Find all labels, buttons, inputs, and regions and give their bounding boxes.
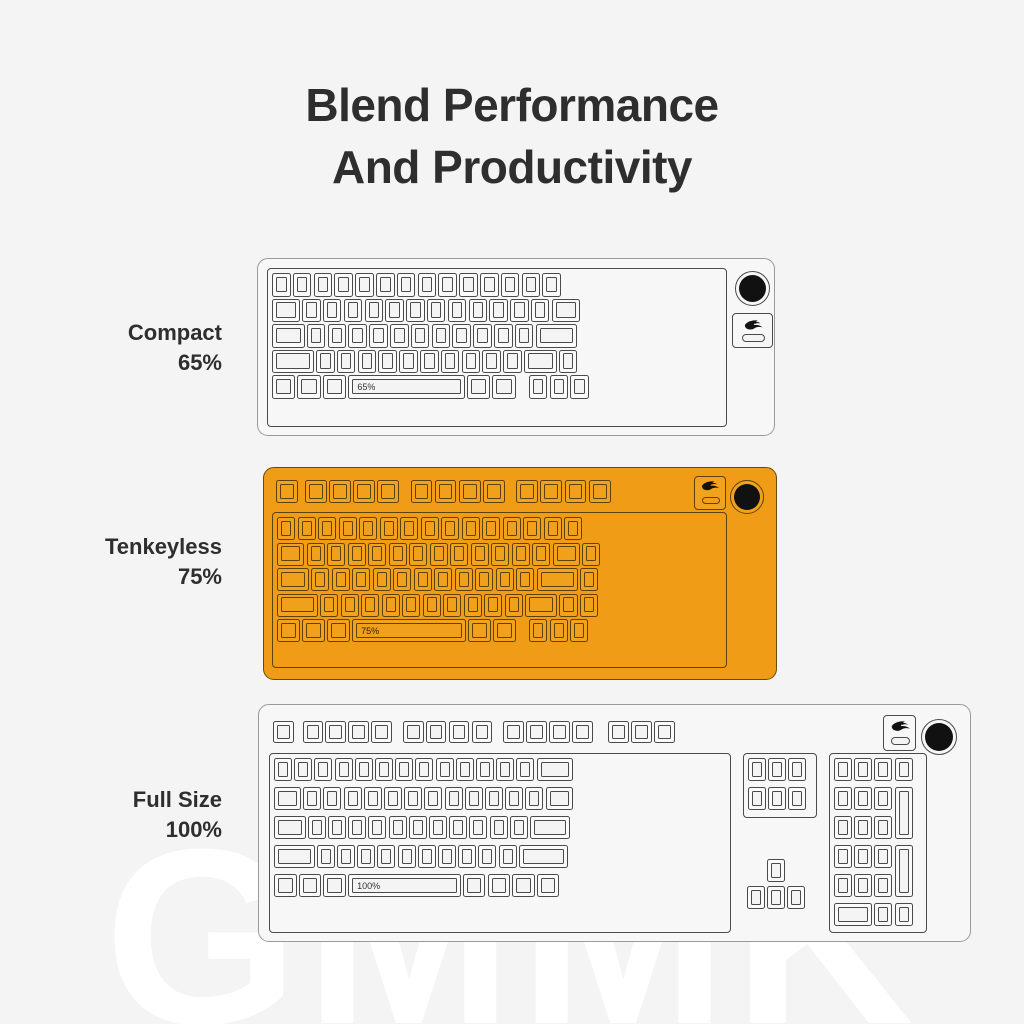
key-function[interactable] xyxy=(371,721,392,743)
key-function[interactable] xyxy=(540,480,562,503)
key-qwerty-row[interactable] xyxy=(424,787,442,810)
key-number-row[interactable] xyxy=(544,517,562,540)
key-qwerty-row[interactable] xyxy=(277,543,304,566)
key-number-row[interactable] xyxy=(293,273,312,297)
key-nav[interactable] xyxy=(768,758,786,781)
key-escape[interactable] xyxy=(273,721,294,743)
glorious-bird-logo-icon xyxy=(699,480,722,492)
spacebar-size-label[interactable] xyxy=(348,375,464,399)
key-number-row[interactable] xyxy=(314,758,332,781)
key-function[interactable] xyxy=(426,721,447,743)
key-home-row[interactable] xyxy=(368,816,386,839)
key-number-row[interactable] xyxy=(380,517,398,540)
key-number-row[interactable] xyxy=(522,273,541,297)
keyboard-label-tenkeyless: Tenkeyless 75% xyxy=(42,532,222,591)
key-qwerty-row[interactable] xyxy=(582,543,600,566)
key-home-row[interactable] xyxy=(307,324,326,348)
key-qwerty-row[interactable] xyxy=(404,787,422,810)
key-qwerty-row[interactable] xyxy=(485,787,503,810)
key-home-row[interactable] xyxy=(274,816,306,839)
key-nav[interactable] xyxy=(748,787,766,810)
key-home-row[interactable] xyxy=(411,324,430,348)
key-escape[interactable] xyxy=(276,480,298,503)
key-qwerty-row[interactable] xyxy=(368,543,386,566)
key-function[interactable] xyxy=(526,721,547,743)
key-shift-row[interactable] xyxy=(505,594,523,617)
nav-cluster-plate xyxy=(743,753,817,818)
key-function[interactable] xyxy=(572,721,593,743)
knob-cap xyxy=(734,484,760,510)
key-shift-row[interactable] xyxy=(398,845,416,868)
keyboard-label-full-size-percent: 100% xyxy=(42,815,222,845)
page-title: Blend Performance And Productivity xyxy=(0,74,1024,198)
key-qwerty-row[interactable] xyxy=(272,299,300,323)
key-home-row[interactable] xyxy=(414,568,432,591)
key-numpad[interactable] xyxy=(854,874,872,897)
key-number-row[interactable] xyxy=(355,273,374,297)
key-shift-row[interactable] xyxy=(559,594,577,617)
key-shift-row[interactable] xyxy=(503,350,522,374)
key-home-row[interactable] xyxy=(352,568,370,591)
key-nav[interactable] xyxy=(788,787,806,810)
key-qwerty-row[interactable] xyxy=(344,787,362,810)
key-shift-row[interactable] xyxy=(399,350,418,374)
key-qwerty-row[interactable] xyxy=(505,787,523,810)
rotary-knob-icon[interactable] xyxy=(921,719,957,755)
key-qwerty-row[interactable] xyxy=(531,299,550,323)
key-arrow[interactable] xyxy=(570,619,588,642)
key-numpad[interactable] xyxy=(874,758,892,781)
key-function[interactable] xyxy=(589,480,611,503)
key-function[interactable] xyxy=(459,480,481,503)
key-number-row[interactable] xyxy=(441,517,459,540)
key-numpad[interactable] xyxy=(895,903,913,926)
logo-badge xyxy=(694,476,726,510)
key-shift-row[interactable] xyxy=(525,594,557,617)
key-function[interactable] xyxy=(549,721,570,743)
key-shift-row[interactable] xyxy=(357,845,375,868)
key-shift-row[interactable] xyxy=(320,594,338,617)
key-shift-row[interactable] xyxy=(316,350,335,374)
key-function[interactable] xyxy=(483,480,505,503)
key-qwerty-row[interactable] xyxy=(553,543,580,566)
key-shift-row[interactable] xyxy=(423,594,441,617)
key-qwerty-row[interactable] xyxy=(445,787,463,810)
key-home-row[interactable] xyxy=(272,324,305,348)
key-shift-row[interactable] xyxy=(358,350,377,374)
key-home-row[interactable] xyxy=(393,568,411,591)
key-home-row[interactable] xyxy=(328,324,347,348)
key-home-row[interactable] xyxy=(389,816,407,839)
keyboard-label-tenkeyless-percent: 75% xyxy=(42,562,222,592)
key-number-row[interactable] xyxy=(496,758,514,781)
key-qwerty-row[interactable] xyxy=(510,299,529,323)
keyboard-label-compact-percent: 65% xyxy=(42,348,222,378)
keyboard-label-full-size-name: Full Size xyxy=(133,787,222,812)
key-arrow[interactable] xyxy=(747,886,765,909)
key-numpad-zero[interactable] xyxy=(834,903,872,926)
key-qwerty-row[interactable] xyxy=(274,787,301,810)
key-number-row[interactable] xyxy=(375,758,393,781)
key-nav[interactable] xyxy=(748,758,766,781)
key-system[interactable] xyxy=(608,721,629,743)
key-numpad[interactable] xyxy=(895,758,913,781)
function-row-plate xyxy=(269,717,869,749)
key-qwerty-row[interactable] xyxy=(327,543,345,566)
key-qwerty-row[interactable] xyxy=(302,299,321,323)
logo-badge xyxy=(883,715,916,751)
key-home-row[interactable] xyxy=(490,816,508,839)
key-numpad[interactable] xyxy=(834,758,852,781)
key-home-row[interactable] xyxy=(515,324,534,348)
key-modifier[interactable] xyxy=(492,375,515,399)
key-number-row[interactable] xyxy=(476,758,494,781)
key-home-row[interactable] xyxy=(429,816,447,839)
key-shift-row[interactable] xyxy=(317,845,335,868)
key-home-row[interactable] xyxy=(455,568,473,591)
key-arrow[interactable] xyxy=(787,886,805,909)
key-shift-row[interactable] xyxy=(361,594,379,617)
keyboard-plate xyxy=(272,512,727,668)
key-shift-row[interactable] xyxy=(580,594,598,617)
key-qwerty-row[interactable] xyxy=(450,543,468,566)
key-numpad[interactable] xyxy=(854,845,872,868)
knob-cap xyxy=(925,723,953,751)
key-shift-row[interactable] xyxy=(519,845,569,868)
key-qwerty-row[interactable] xyxy=(409,543,427,566)
key-modifier[interactable] xyxy=(274,874,297,897)
key-home-row[interactable] xyxy=(449,816,467,839)
key-function[interactable] xyxy=(325,721,346,743)
key-number-row[interactable] xyxy=(480,273,499,297)
key-function[interactable] xyxy=(329,480,351,503)
key-shift-row[interactable] xyxy=(478,845,496,868)
key-numpad[interactable] xyxy=(834,874,852,897)
key-number-row[interactable] xyxy=(438,273,457,297)
numpad-plate xyxy=(829,753,927,933)
key-home-row[interactable] xyxy=(469,816,487,839)
key-arrow[interactable] xyxy=(529,619,547,642)
key-number-row[interactable] xyxy=(334,273,353,297)
key-numpad[interactable] xyxy=(834,787,852,810)
key-shift-row[interactable] xyxy=(277,594,318,617)
key-modifier[interactable] xyxy=(323,874,346,897)
key-numpad[interactable] xyxy=(854,816,872,839)
key-number-row[interactable] xyxy=(462,517,480,540)
key-qwerty-row[interactable] xyxy=(552,299,580,323)
key-system[interactable] xyxy=(631,721,652,743)
key-number-row[interactable] xyxy=(516,758,534,781)
status-indicator-pill xyxy=(742,334,765,342)
key-qwerty-row[interactable] xyxy=(430,543,448,566)
keyboard-plate xyxy=(267,268,727,427)
key-qwerty-row[interactable] xyxy=(385,299,404,323)
key-number-row[interactable] xyxy=(274,758,292,781)
key-number-row[interactable] xyxy=(298,517,316,540)
key-arrow[interactable] xyxy=(529,375,548,399)
key-arrow[interactable] xyxy=(767,886,785,909)
keyboard-label-compact-name: Compact xyxy=(128,320,222,345)
rotary-knob-icon[interactable] xyxy=(730,480,764,514)
key-qwerty-row[interactable] xyxy=(525,787,543,810)
key-function[interactable] xyxy=(565,480,587,503)
key-function[interactable] xyxy=(353,480,375,503)
key-number-row[interactable] xyxy=(482,517,500,540)
logo-badge xyxy=(732,313,773,348)
key-home-row[interactable] xyxy=(373,568,391,591)
rotary-knob-icon[interactable] xyxy=(735,271,770,306)
key-number-row[interactable] xyxy=(415,758,433,781)
key-numpad[interactable] xyxy=(834,845,852,868)
key-shift-row[interactable] xyxy=(341,594,359,617)
key-shift-row[interactable] xyxy=(382,594,400,617)
status-indicator-pill xyxy=(702,497,720,504)
key-shift-row[interactable] xyxy=(377,845,395,868)
key-arrow[interactable] xyxy=(550,619,568,642)
key-qwerty-row[interactable] xyxy=(427,299,446,323)
key-number-row[interactable] xyxy=(335,758,353,781)
key-home-row[interactable] xyxy=(537,568,578,591)
key-numpad[interactable] xyxy=(874,874,892,897)
key-shift-row[interactable] xyxy=(438,845,456,868)
key-home-row[interactable] xyxy=(475,568,493,591)
key-qwerty-row[interactable] xyxy=(512,543,530,566)
key-qwerty-row[interactable] xyxy=(384,787,402,810)
key-modifier[interactable] xyxy=(512,874,535,897)
key-home-row[interactable] xyxy=(510,816,528,839)
keyboard-tenkeyless[interactable] xyxy=(263,467,777,680)
key-home-row[interactable] xyxy=(530,816,571,839)
page-title-line-1: Blend Performance xyxy=(305,79,718,131)
key-home-row[interactable] xyxy=(311,568,329,591)
key-function[interactable] xyxy=(516,480,538,503)
key-numpad-plus[interactable] xyxy=(895,787,913,839)
key-arrow-up[interactable] xyxy=(767,859,785,882)
key-function[interactable] xyxy=(472,721,493,743)
key-modifier[interactable] xyxy=(272,375,295,399)
key-numpad[interactable] xyxy=(874,787,892,810)
key-qwerty-row[interactable] xyxy=(532,543,550,566)
key-home-row[interactable] xyxy=(390,324,409,348)
key-home-row[interactable] xyxy=(409,816,427,839)
arrow-cluster-plate xyxy=(743,857,817,913)
key-home-row[interactable] xyxy=(432,324,451,348)
key-function[interactable] xyxy=(411,480,433,503)
key-system[interactable] xyxy=(654,721,675,743)
key-arrow[interactable] xyxy=(570,375,589,399)
key-shift-row[interactable] xyxy=(337,350,356,374)
key-function[interactable] xyxy=(348,721,369,743)
key-number-row[interactable] xyxy=(400,517,418,540)
key-number-row[interactable] xyxy=(395,758,413,781)
key-number-row[interactable] xyxy=(421,517,439,540)
key-numpad-enter[interactable] xyxy=(895,845,913,897)
keyboard-label-full-size: Full Size 100% xyxy=(42,785,222,844)
key-shift-row[interactable] xyxy=(559,350,578,374)
key-shift-row[interactable] xyxy=(402,594,420,617)
key-home-row[interactable] xyxy=(496,568,514,591)
key-shift-row[interactable] xyxy=(458,845,476,868)
key-home-row[interactable] xyxy=(516,568,534,591)
key-qwerty-row[interactable] xyxy=(344,299,363,323)
keyboard-plate-main xyxy=(269,753,731,933)
key-number-row[interactable] xyxy=(359,517,377,540)
keyboard-compact[interactable] xyxy=(257,258,775,436)
key-modifier[interactable] xyxy=(277,619,300,642)
key-qwerty-row[interactable] xyxy=(364,787,382,810)
key-number-row[interactable] xyxy=(314,273,333,297)
key-qwerty-row[interactable] xyxy=(406,299,425,323)
page-title-line-2: And Productivity xyxy=(0,136,1024,198)
spacebar-size-label[interactable] xyxy=(348,874,461,897)
key-number-row[interactable] xyxy=(503,517,521,540)
key-modifier[interactable] xyxy=(537,874,560,897)
key-home-row[interactable] xyxy=(434,568,452,591)
key-numpad[interactable] xyxy=(874,845,892,868)
key-nav[interactable] xyxy=(768,787,786,810)
key-arrow[interactable] xyxy=(550,375,569,399)
glorious-bird-logo-icon xyxy=(739,319,769,331)
key-modifier[interactable] xyxy=(493,619,516,642)
key-qwerty-row[interactable] xyxy=(307,543,325,566)
key-function[interactable] xyxy=(377,480,399,503)
key-shift-row[interactable] xyxy=(462,350,481,374)
key-number-row[interactable] xyxy=(456,758,474,781)
key-qwerty-row[interactable] xyxy=(465,787,483,810)
key-numpad[interactable] xyxy=(834,816,852,839)
key-qwerty-row[interactable] xyxy=(323,787,341,810)
key-numpad[interactable] xyxy=(854,758,872,781)
key-home-row[interactable] xyxy=(332,568,350,591)
key-home-row[interactable] xyxy=(348,816,366,839)
key-function[interactable] xyxy=(303,721,324,743)
key-qwerty-row[interactable] xyxy=(348,543,366,566)
glorious-bird-logo-icon xyxy=(889,720,913,732)
spacebar-size-label[interactable] xyxy=(352,619,466,642)
key-modifier[interactable] xyxy=(327,619,350,642)
key-qwerty-row[interactable] xyxy=(303,787,321,810)
key-function[interactable] xyxy=(503,721,524,743)
key-number-row[interactable] xyxy=(376,273,395,297)
key-number-row[interactable] xyxy=(397,273,416,297)
key-number-row[interactable] xyxy=(542,273,561,297)
key-number-row[interactable] xyxy=(523,517,541,540)
key-shift-row[interactable] xyxy=(420,350,439,374)
key-number-row[interactable] xyxy=(339,517,357,540)
key-shift-row[interactable] xyxy=(272,350,314,374)
key-home-row[interactable] xyxy=(369,324,388,348)
key-qwerty-row[interactable] xyxy=(389,543,407,566)
key-modifier[interactable] xyxy=(468,619,491,642)
key-qwerty-row[interactable] xyxy=(546,787,573,810)
key-number-row[interactable] xyxy=(318,517,336,540)
keyboard-full-size[interactable] xyxy=(258,704,971,942)
key-shift-row[interactable] xyxy=(378,350,397,374)
key-number-row[interactable] xyxy=(501,273,520,297)
key-number-row[interactable] xyxy=(294,758,312,781)
key-qwerty-row[interactable] xyxy=(365,299,384,323)
key-qwerty-row[interactable] xyxy=(489,299,508,323)
key-number-row[interactable] xyxy=(459,273,478,297)
keyboard-label-tenkeyless-name: Tenkeyless xyxy=(105,534,222,559)
key-modifier[interactable] xyxy=(302,619,325,642)
key-numpad-dot[interactable] xyxy=(874,903,892,926)
key-shift-row[interactable] xyxy=(443,594,461,617)
key-numpad[interactable] xyxy=(874,816,892,839)
key-qwerty-row[interactable] xyxy=(491,543,509,566)
key-modifier[interactable] xyxy=(488,874,511,897)
key-home-row[interactable] xyxy=(348,324,367,348)
key-modifier[interactable] xyxy=(323,375,346,399)
key-shift-row[interactable] xyxy=(482,350,501,374)
key-home-row[interactable] xyxy=(277,568,309,591)
key-number-row[interactable] xyxy=(537,758,573,781)
key-number-row[interactable] xyxy=(277,517,295,540)
key-number-row[interactable] xyxy=(564,517,582,540)
key-nav[interactable] xyxy=(788,758,806,781)
key-qwerty-row[interactable] xyxy=(448,299,467,323)
key-modifier[interactable] xyxy=(297,375,320,399)
key-qwerty-row[interactable] xyxy=(323,299,342,323)
key-shift-row[interactable] xyxy=(464,594,482,617)
key-number-row[interactable] xyxy=(436,758,454,781)
key-shift-row[interactable] xyxy=(418,845,436,868)
key-qwerty-row[interactable] xyxy=(469,299,488,323)
poster-canvas: GMMK Blend Performance And Productivity … xyxy=(0,0,1024,1024)
key-shift-row[interactable] xyxy=(524,350,557,374)
key-function[interactable] xyxy=(449,721,470,743)
key-home-row[interactable] xyxy=(328,816,346,839)
key-shift-row[interactable] xyxy=(499,845,517,868)
key-home-row[interactable] xyxy=(580,568,598,591)
key-number-row[interactable] xyxy=(355,758,373,781)
key-home-row[interactable] xyxy=(473,324,492,348)
key-numpad[interactable] xyxy=(854,787,872,810)
key-modifier[interactable] xyxy=(467,375,490,399)
key-shift-row[interactable] xyxy=(484,594,502,617)
key-function[interactable] xyxy=(435,480,457,503)
knob-cap xyxy=(739,275,766,302)
key-shift-row[interactable] xyxy=(274,845,315,868)
key-function[interactable] xyxy=(305,480,327,503)
keyboard-label-compact: Compact 65% xyxy=(42,318,222,377)
key-home-row[interactable] xyxy=(452,324,471,348)
key-shift-row[interactable] xyxy=(441,350,460,374)
key-function[interactable] xyxy=(403,721,424,743)
key-number-row[interactable] xyxy=(418,273,437,297)
key-home-row[interactable] xyxy=(308,816,326,839)
key-number-row[interactable] xyxy=(272,273,291,297)
key-home-row[interactable] xyxy=(536,324,578,348)
key-qwerty-row[interactable] xyxy=(471,543,489,566)
key-shift-row[interactable] xyxy=(337,845,355,868)
status-indicator-pill xyxy=(891,737,909,745)
key-home-row[interactable] xyxy=(494,324,513,348)
key-modifier[interactable] xyxy=(463,874,486,897)
key-modifier[interactable] xyxy=(299,874,322,897)
